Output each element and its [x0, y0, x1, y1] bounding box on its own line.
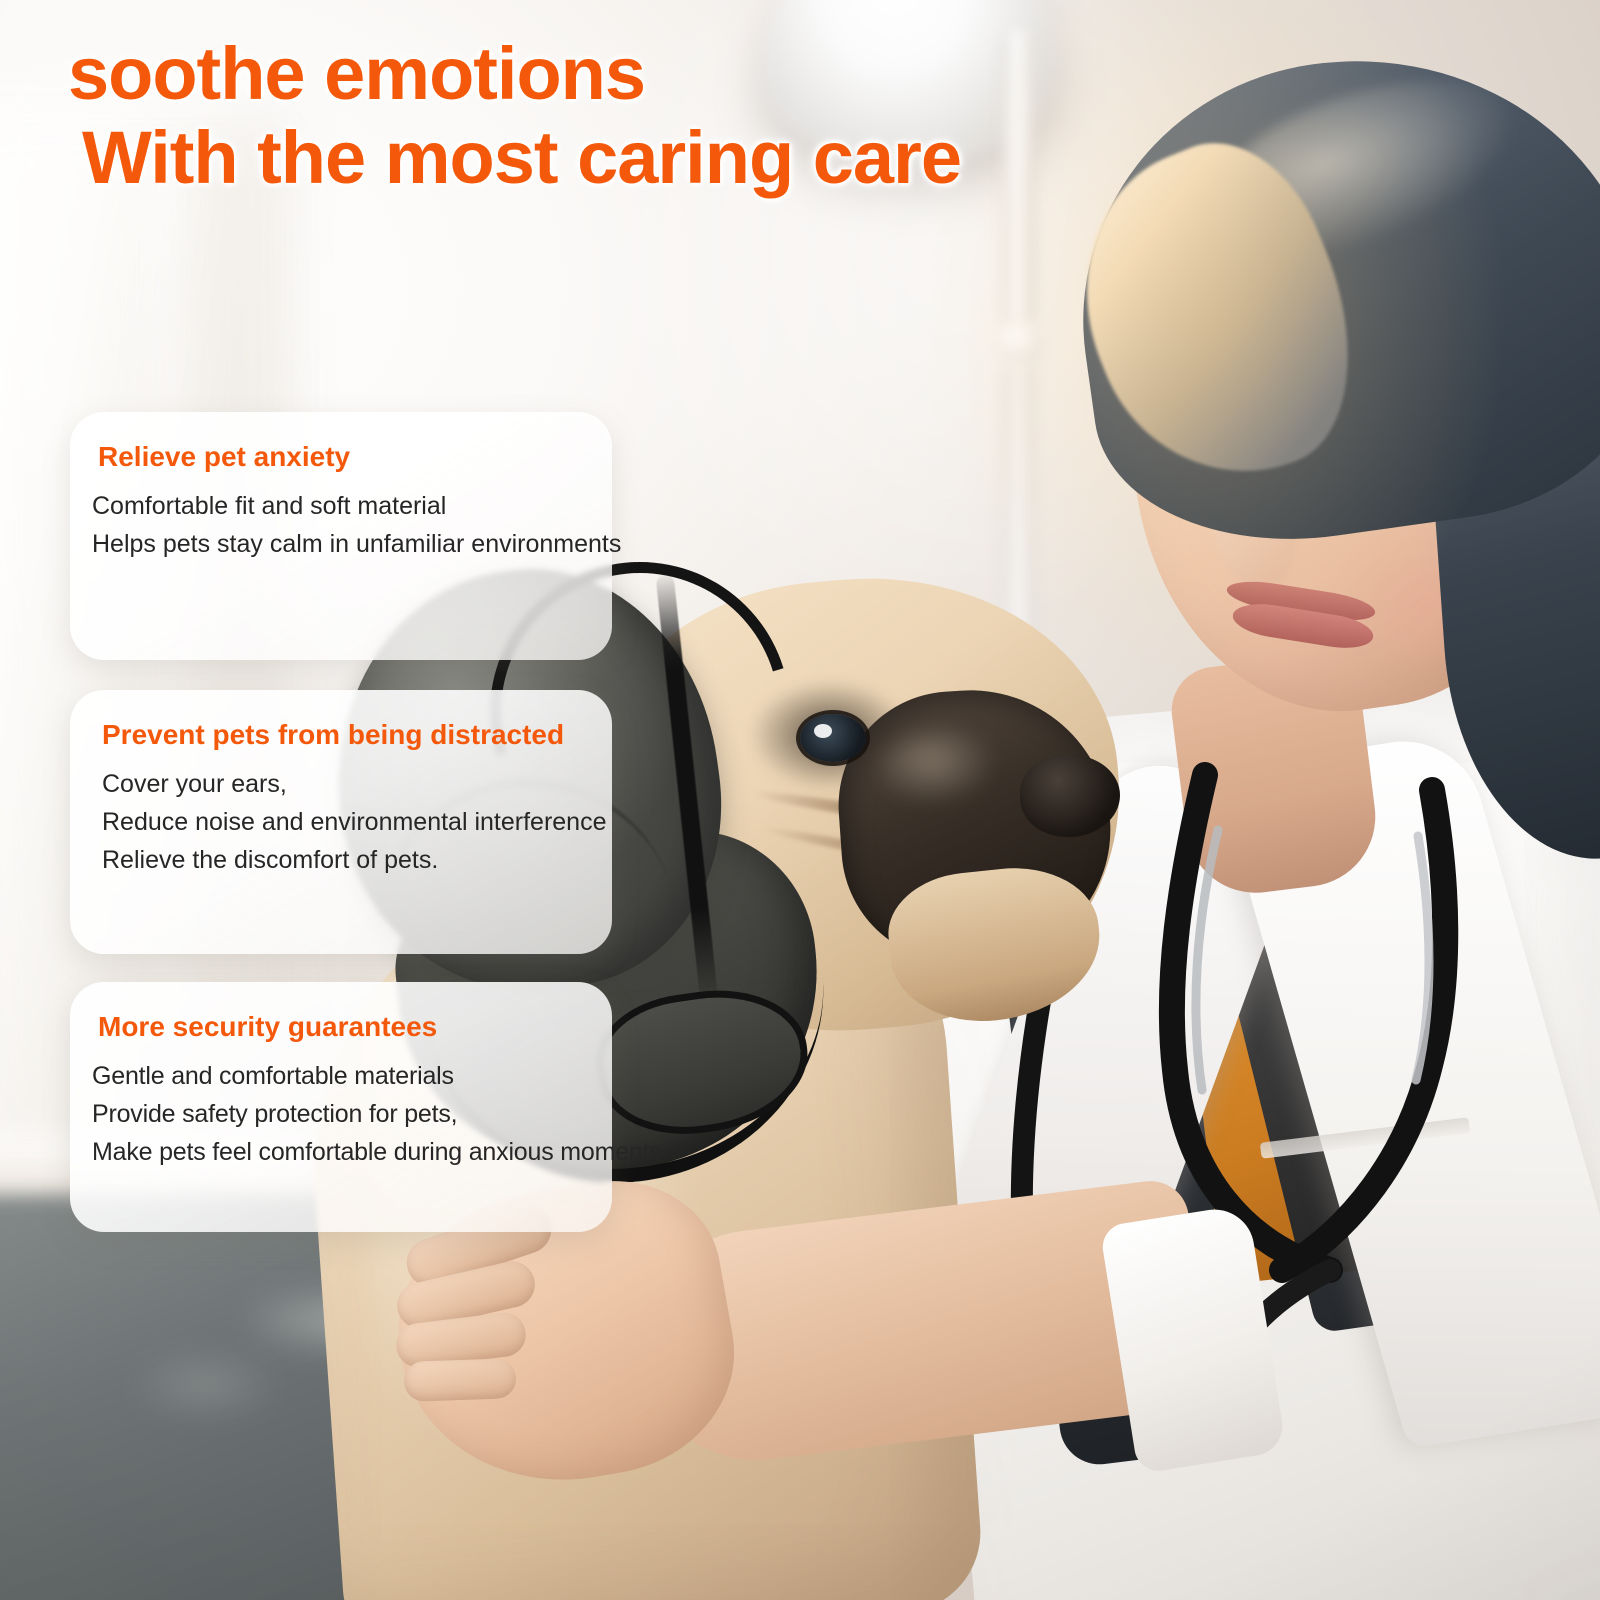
feature-card-line: Provide safety protection for pets, [92, 1095, 586, 1133]
feature-card-security-guarantees: More security guarantees Gentle and comf… [70, 982, 612, 1232]
headline-line-1: soothe emotions [68, 36, 1088, 111]
feature-card-line: Reduce noise and environmental interfere… [92, 803, 586, 841]
feature-card-line: Comfortable fit and soft material [92, 487, 586, 525]
feature-card-title: Prevent pets from being distracted [92, 718, 586, 751]
feature-card-line: Make pets feel comfortable during anxiou… [92, 1133, 586, 1171]
feature-card-title: Relieve pet anxiety [92, 440, 586, 473]
headline-line-2: With the most caring care [68, 111, 1088, 204]
feature-card-list: Relieve pet anxiety Comfortable fit and … [0, 0, 1600, 1600]
feature-card-line: Gentle and comfortable materials [92, 1057, 586, 1095]
feature-card-line: Relieve the discomfort of pets. [92, 841, 586, 879]
feature-card-line: Cover your ears, [92, 765, 586, 803]
feature-card-line: Helps pets stay calm in unfamiliar envir… [92, 525, 586, 563]
headline: soothe emotions With the most caring car… [68, 36, 1088, 205]
feature-card-title: More security guarantees [92, 1010, 586, 1043]
product-banner: soothe emotions With the most caring car… [0, 0, 1600, 1600]
feature-card-prevent-distraction: Prevent pets from being distracted Cover… [70, 690, 612, 954]
feature-card-relieve-pet-anxiety: Relieve pet anxiety Comfortable fit and … [70, 412, 612, 660]
